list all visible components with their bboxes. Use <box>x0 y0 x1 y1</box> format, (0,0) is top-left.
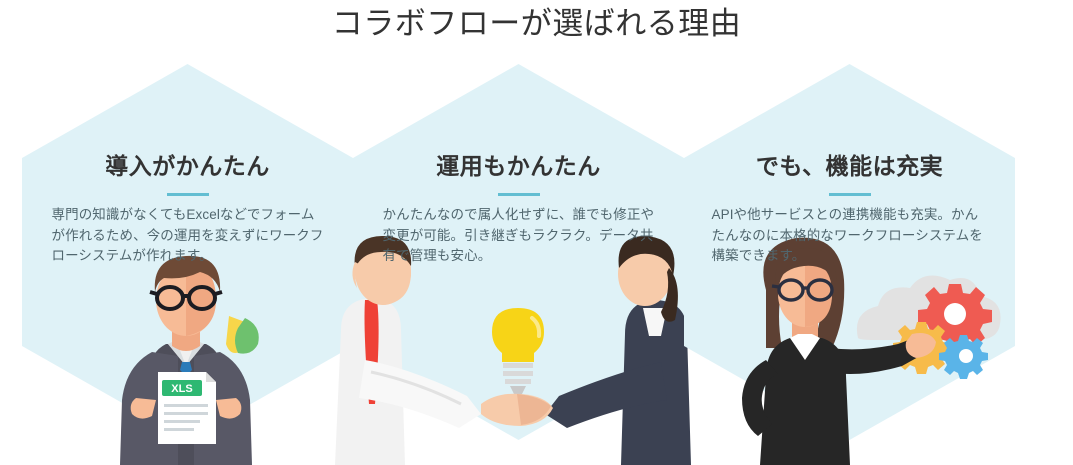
panel-divider <box>167 193 209 196</box>
panel-heading: でも、機能は充実 <box>684 150 1015 182</box>
feature-panels: XLS 導入がかんたん 専門の知識がなくてもExcelなどでフォームが作れるため… <box>0 0 1073 465</box>
panel-body-text: かんたんなので属人化せずに、誰でも修正や変更が可能。引き継ぎもラクラク。データ共… <box>383 205 655 267</box>
feature-panel-easy-introduction: XLS 導入がかんたん 専門の知識がなくてもExcelなどでフォームが作れるため… <box>0 0 366 465</box>
panel-heading: 導入がかんたん <box>22 150 353 182</box>
panel-text-block: 運用もかんたん かんたんなので属人化せずに、誰でも修正や変更が可能。引き継ぎもラ… <box>353 150 684 267</box>
panel-text-block: でも、機能は充実 APIや他サービスとの連携機能も充実。かんたんなのに本格的なワ… <box>684 150 1015 267</box>
panel-heading: 運用もかんたん <box>353 150 684 182</box>
feature-panel-easy-operation: 運用もかんたん かんたんなので属人化せずに、誰でも修正や変更が可能。引き継ぎもラ… <box>331 0 697 465</box>
panel-divider <box>498 193 540 196</box>
feature-panel-rich-functionality: でも、機能は充実 APIや他サービスとの連携機能も充実。かんたんなのに本格的なワ… <box>662 0 1028 465</box>
panel-body-text: 専門の知識がなくてもExcelなどでフォームが作れるため、今の運用を変えずにワー… <box>52 205 324 267</box>
panel-divider <box>829 193 871 196</box>
panel-body-text: APIや他サービスとの連携機能も充実。かんたんなのに本格的なワークフローシステム… <box>712 205 988 267</box>
panel-text-block: 導入がかんたん 専門の知識がなくてもExcelなどでフォームが作れるため、今の運… <box>22 150 353 267</box>
